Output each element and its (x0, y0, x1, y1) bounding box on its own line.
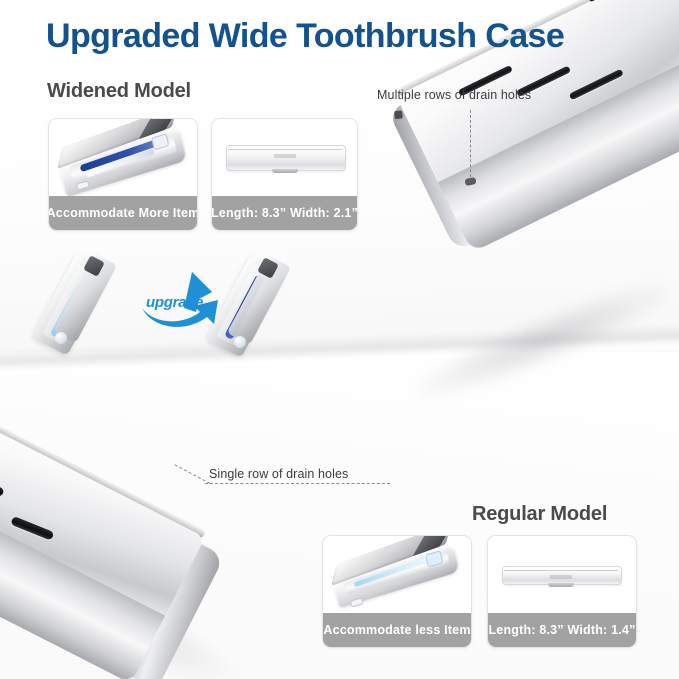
open-case-illustration (326, 536, 467, 613)
case-seam (504, 570, 618, 571)
comparison-before-case (38, 250, 134, 354)
closed-case-illustration (226, 145, 344, 169)
product-infographic: Upgraded Wide Toothbrush Case Widened Mo… (0, 0, 679, 679)
card-photo (488, 536, 636, 613)
annotation-single-drain-holes: Single row of drain holes (209, 467, 348, 481)
regular-model-heading: Regular Model (472, 503, 607, 526)
card-widened-dimensions[interactable]: Length: 8.3” Width: 2.1” (211, 118, 358, 231)
brand-mark (550, 575, 572, 579)
card-photo (323, 536, 471, 613)
card-widened-accommodate[interactable]: Accommodate More Item (48, 118, 198, 231)
annotation-multiple-drain-holes: Multiple rows of drain holes (377, 88, 531, 102)
leader-line-vertical (470, 110, 471, 182)
case-hinge-icon (394, 110, 403, 119)
drain-slot-icon (0, 473, 5, 498)
card-caption: Accommodate More Item (49, 196, 197, 230)
card-caption: Accommodate less Item (323, 613, 471, 647)
case-latch-icon (548, 583, 574, 587)
open-case-illustration (52, 119, 193, 196)
closed-case-illustration (502, 566, 620, 583)
card-photo (49, 119, 197, 196)
comparison-after-case (212, 252, 308, 356)
card-regular-accommodate[interactable]: Accommodate less Item (322, 535, 472, 648)
widened-model-heading: Widened Model (47, 80, 191, 103)
item-knob-icon (55, 332, 67, 344)
page-title: Upgraded Wide Toothbrush Case (46, 15, 646, 57)
card-photo (212, 119, 357, 196)
upgrade-label: upgrade (146, 294, 203, 311)
card-caption: Length: 8.3” Width: 2.1” (212, 196, 357, 230)
drain-slot-icon (10, 516, 54, 541)
item-knob-icon (234, 336, 246, 348)
case-seam (228, 149, 342, 150)
card-regular-dimensions[interactable]: Length: 8.3” Width: 1.4” (487, 535, 637, 648)
leader-line-horizontal (205, 483, 390, 484)
case-latch-icon (272, 169, 298, 173)
brand-mark (274, 154, 296, 158)
card-caption: Length: 8.3” Width: 1.4” (488, 613, 636, 647)
